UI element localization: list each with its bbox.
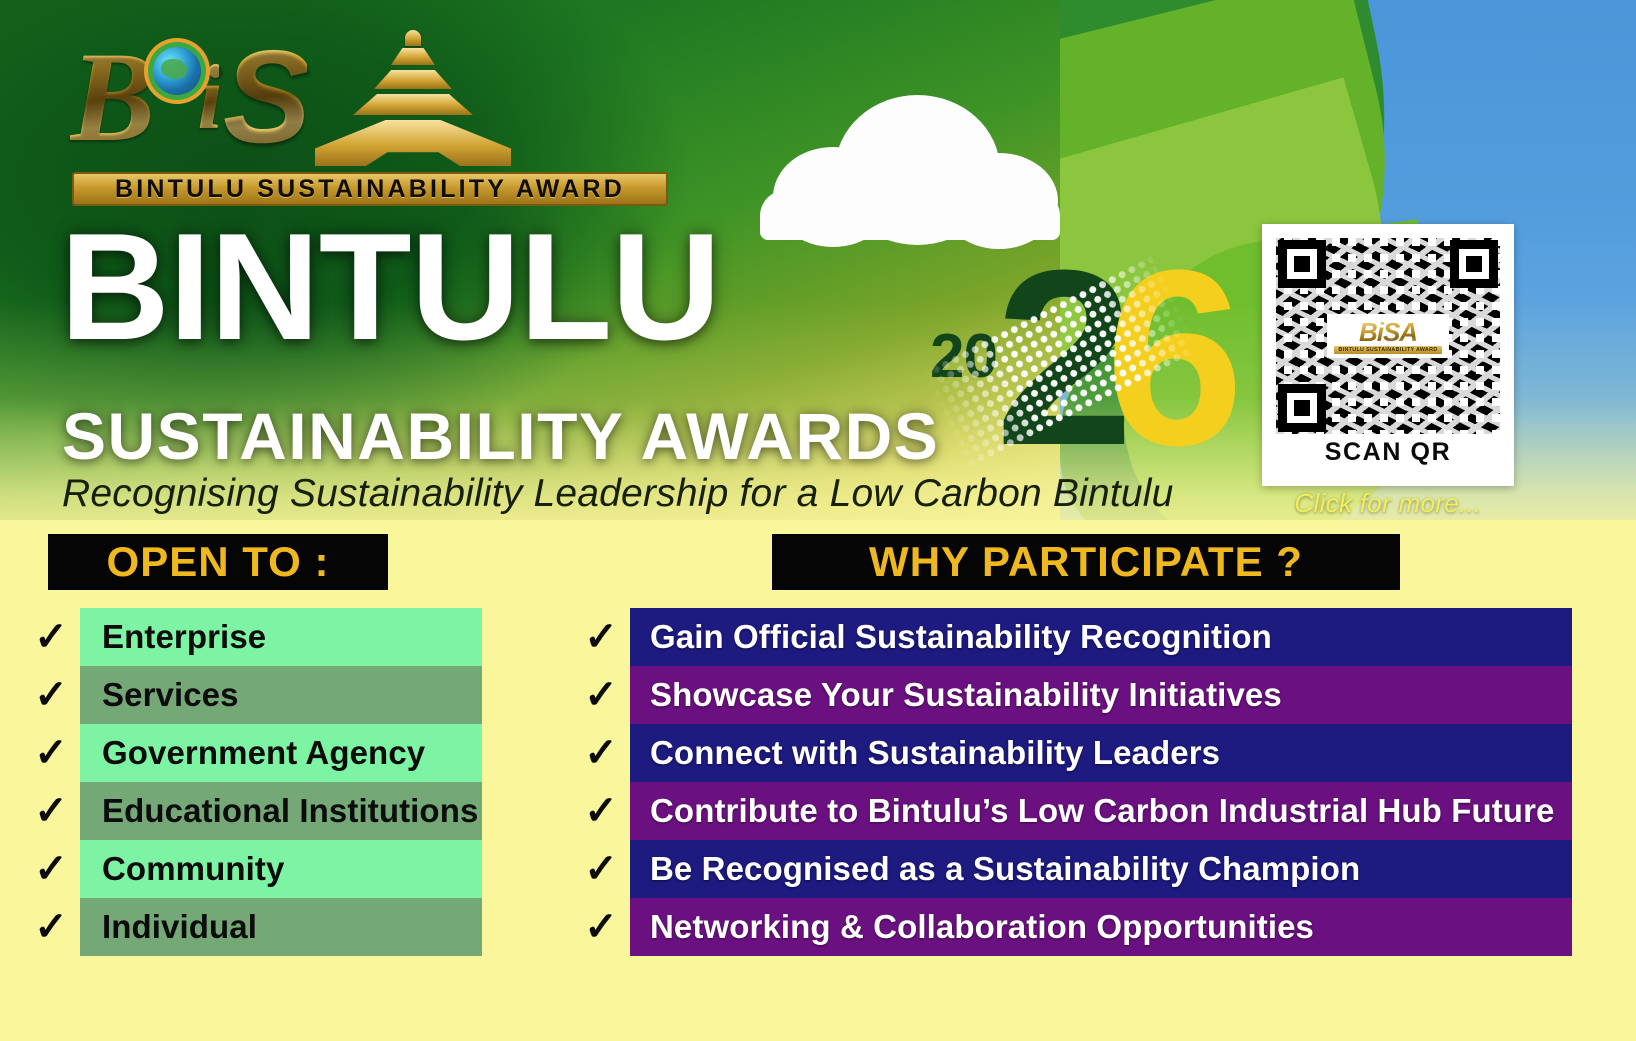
list-item: ✓ Enterprise: [22, 608, 482, 666]
why-participate-item-label: Be Recognised as a Sustainability Champi…: [630, 840, 1572, 898]
open-to-item-label: Individual: [80, 898, 482, 956]
open-to-item-label: Government Agency: [80, 724, 482, 782]
qr-logo-caption: BINTULU SUSTAINABILITY AWARD: [1334, 346, 1441, 354]
qr-code-card[interactable]: BiSA BINTULU SUSTAINABILITY AWARD SCAN Q…: [1262, 224, 1514, 486]
bisa-logo-mark: B i S: [70, 22, 670, 172]
list-item: ✓ Contribute to Bintulu’s Low Carbon Ind…: [572, 782, 1572, 840]
qr-embedded-logo: BiSA BINTULU SUSTAINABILITY AWARD: [1327, 314, 1449, 358]
check-icon: ✓: [22, 666, 80, 724]
why-participate-item-label: Showcase Your Sustainability Initiatives: [630, 666, 1572, 724]
why-participate-item-label: Gain Official Sustainability Recognition: [630, 608, 1572, 666]
check-icon: ✓: [22, 724, 80, 782]
why-participate-item-label: Connect with Sustainability Leaders: [630, 724, 1572, 782]
list-item: ✓ Connect with Sustainability Leaders: [572, 724, 1572, 782]
page-title: BINTULU: [60, 218, 980, 358]
qr-label: SCAN QR: [1276, 438, 1500, 467]
check-icon: ✓: [572, 840, 630, 898]
page-subtitle: SUSTAINABILITY AWARDS: [62, 398, 1012, 474]
logo-banner-text: BINTULU SUSTAINABILITY AWARD: [72, 172, 668, 206]
globe-icon: [153, 47, 201, 95]
open-to-item-label: Services: [80, 666, 482, 724]
open-to-item-label: Educational Institutions: [80, 782, 482, 840]
qr-finder-top-right: [1450, 240, 1498, 288]
why-participate-list: ✓ Gain Official Sustainability Recogniti…: [572, 608, 1572, 956]
cloud-icon: [755, 95, 1065, 230]
open-to-item-label: Community: [80, 840, 482, 898]
logo-letter-s: S: [223, 31, 307, 163]
list-item: ✓ Services: [22, 666, 482, 724]
check-icon: ✓: [22, 608, 80, 666]
check-icon: ✓: [22, 782, 80, 840]
check-icon: ✓: [22, 898, 80, 956]
list-item: ✓ Government Agency: [22, 724, 482, 782]
why-participate-item-label: Networking & Collaboration Opportunities: [630, 898, 1572, 956]
logo-letter-b: B: [70, 33, 151, 161]
qr-finder-top-left: [1278, 240, 1326, 288]
why-participate-item-label: Contribute to Bintulu’s Low Carbon Indus…: [630, 782, 1572, 840]
poster-root: B i S BINTULU SUSTAINABILITY AWARD BINTU…: [0, 0, 1636, 1041]
qr-logo-mark: BiSA: [1359, 319, 1417, 345]
section-header-open-to: OPEN TO :: [48, 534, 388, 590]
check-icon: ✓: [572, 724, 630, 782]
check-icon: ✓: [572, 608, 630, 666]
list-item: ✓ Educational Institutions: [22, 782, 482, 840]
list-item: ✓ Networking & Collaboration Opportuniti…: [572, 898, 1572, 956]
open-to-item-label: Enterprise: [80, 608, 482, 666]
list-item: ✓ Be Recognised as a Sustainability Cham…: [572, 840, 1572, 898]
list-item: ✓ Community: [22, 840, 482, 898]
qr-finder-bottom-left: [1278, 384, 1326, 432]
qr-code-image[interactable]: BiSA BINTULU SUSTAINABILITY AWARD: [1276, 238, 1500, 434]
section-header-why-participate: WHY PARTICIPATE ?: [772, 534, 1400, 590]
list-item: ✓ Gain Official Sustainability Recogniti…: [572, 608, 1572, 666]
qr-click-for-more[interactable]: Click for more...: [1262, 488, 1514, 519]
open-to-list: ✓ Enterprise ✓ Services ✓ Government Age…: [22, 608, 482, 956]
logo-letter-i: i: [197, 51, 219, 143]
list-item: ✓ Showcase Your Sustainability Initiativ…: [572, 666, 1572, 724]
check-icon: ✓: [22, 840, 80, 898]
bisa-logo: B i S BINTULU SUSTAINABILITY AWARD: [70, 22, 670, 212]
check-icon: ✓: [572, 898, 630, 956]
year-2026-graphic: 2 6 20: [920, 245, 1220, 495]
check-icon: ✓: [572, 666, 630, 724]
check-icon: ✓: [572, 782, 630, 840]
pagoda-tower-icon: [313, 22, 513, 172]
list-item: ✓ Individual: [22, 898, 482, 956]
